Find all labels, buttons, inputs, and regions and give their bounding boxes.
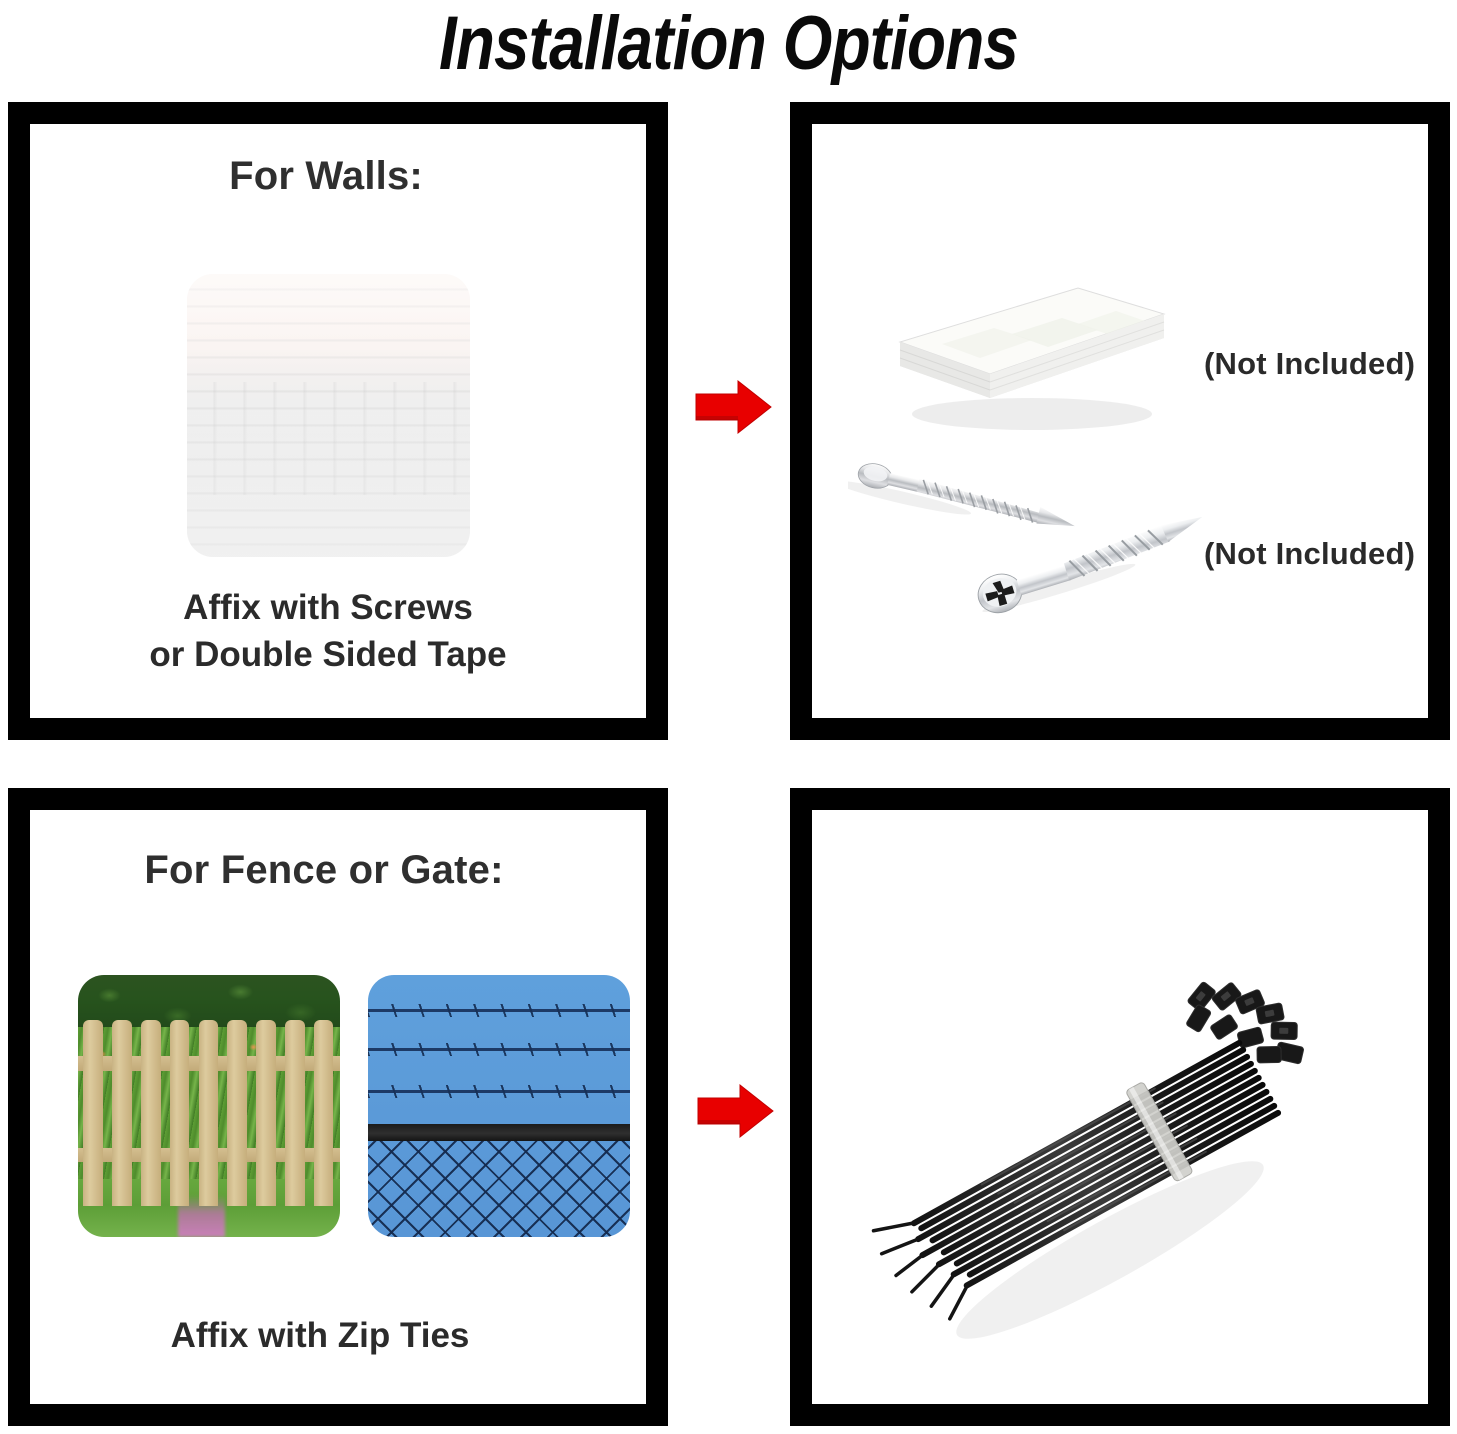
- fence-picket: [141, 1020, 161, 1206]
- fence-picket: [256, 1020, 276, 1206]
- panel-for-walls: For Walls: Affix with Screws or Double S…: [8, 102, 668, 740]
- panel-for-fence-content: For Fence or Gate:: [30, 810, 646, 1404]
- panel-wall-hardware-content: (Not Included): [812, 124, 1428, 718]
- panel-fence-hardware: (Not Included): [790, 788, 1450, 1426]
- caption-for-walls: Affix with Screws or Double Sided Tape: [30, 584, 636, 678]
- page-title: Installation Options: [117, 0, 1341, 90]
- fence-picket: [83, 1020, 103, 1206]
- barbed-wire-strand: [368, 1090, 630, 1093]
- fence-picket: [314, 1020, 334, 1206]
- panel-for-fence-or-gate: For Fence or Gate:: [8, 788, 668, 1426]
- panel-for-walls-content: For Walls: Affix with Screws or Double S…: [30, 124, 646, 718]
- fence-picket: [199, 1020, 219, 1206]
- fence-picket: [170, 1020, 190, 1206]
- double-sided-tape-stack-image: [882, 246, 1182, 436]
- caption-for-fence: Affix with Zip Ties: [30, 1312, 628, 1359]
- screws-not-included-label: (Not Included): [1204, 536, 1415, 572]
- white-paint-wash: [187, 274, 470, 557]
- caption-line-1: Affix with Screws: [30, 584, 636, 631]
- barbed-wire-strand: [368, 1009, 630, 1012]
- barbed-wire-strand: [368, 1048, 630, 1051]
- wooden-picket-fence-photo: [78, 975, 340, 1237]
- tape-not-included-label: (Not Included): [1204, 346, 1415, 382]
- fence-picket: [285, 1020, 305, 1206]
- chain-link-mesh: [368, 1141, 630, 1237]
- panel-wall-hardware: (Not Included): [790, 102, 1450, 740]
- fence-top-rail: [368, 1124, 630, 1141]
- fence-picket: [112, 1020, 132, 1206]
- wood-screws-image: [848, 454, 1208, 634]
- panel-fence-hardware-content: (Not Included): [812, 810, 1428, 1404]
- white-brick-wall-thumbnail: [187, 274, 470, 557]
- black-zip-ties-bundle-image: [860, 920, 1380, 1340]
- heading-for-walls: For Walls:: [30, 154, 634, 199]
- red-arrow-right-icon: [694, 1082, 776, 1140]
- red-arrow-right-icon: [692, 378, 774, 436]
- caption-line-2: or Double Sided Tape: [30, 631, 636, 678]
- heading-for-fence-or-gate: For Fence or Gate:: [30, 848, 632, 893]
- fence-picket: [227, 1020, 247, 1206]
- chain-link-fence-photo: [368, 975, 630, 1237]
